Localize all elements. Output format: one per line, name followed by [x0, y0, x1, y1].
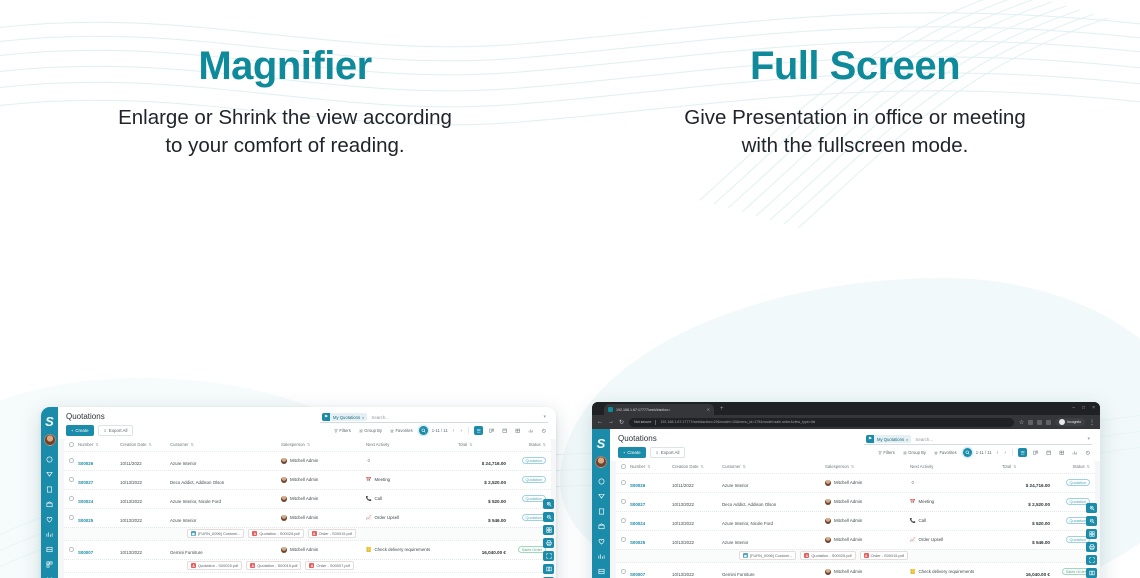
back-icon[interactable]: ← — [597, 419, 603, 425]
close-window-button[interactable]: × — [1092, 405, 1095, 411]
pdf-file-icon: A — [250, 563, 255, 568]
calendar-view-button[interactable] — [1044, 448, 1053, 457]
forward-icon[interactable]: → — [608, 419, 614, 425]
cell-total: $ 520.00 — [458, 490, 506, 508]
attachment-chips: ▣[FURN_0096] Customi...AQuotation - S000… — [69, 529, 356, 538]
attachment-label: Quotation - S00025.pdf — [198, 563, 238, 568]
avatar[interactable] — [595, 456, 607, 468]
magnifier-minus-icon[interactable] — [1086, 516, 1097, 526]
avatar — [825, 518, 831, 524]
group-by-button[interactable]: Group By — [901, 449, 928, 456]
address-bar[interactable]: Not secure 192.168.1.67:17777/web#action… — [629, 418, 1014, 427]
floating-action-buttons — [543, 499, 554, 578]
cell-creation-date: 10/13/2022 — [672, 563, 722, 578]
cell-total: $ 546.00 — [458, 509, 506, 527]
row-checkbox[interactable] — [621, 518, 630, 523]
favorites-button[interactable]: Favorites — [932, 449, 959, 456]
security-label: Not secure — [634, 420, 651, 424]
row-checkbox[interactable] — [69, 496, 78, 501]
row-checkbox[interactable] — [69, 547, 78, 552]
table-header-row: Number⇅ Creation Date⇅ Customer⇅ Salespe… — [64, 439, 551, 451]
magnifier-minus-icon[interactable] — [543, 512, 554, 522]
avatar — [281, 515, 287, 521]
attachment-chip[interactable]: AQuotation - S00025.pdf — [800, 551, 855, 560]
cell-creation-date: 10/11/2022 — [672, 474, 722, 492]
page-title-magnifier: Magnifier — [0, 44, 570, 88]
pdf-file-icon: A — [191, 563, 196, 568]
cell-next-activity: 📒Check delivery requirements — [366, 547, 458, 553]
column-header-salesperson[interactable]: Salesperson⇅ — [281, 442, 366, 447]
purchase-icon[interactable] — [597, 552, 606, 561]
sort-icon: ⇅ — [307, 442, 310, 447]
status-badge: Quotation — [1066, 479, 1090, 487]
cell-number[interactable]: S00027 — [630, 493, 672, 511]
incognito-badge[interactable]: Incognito — [1055, 418, 1085, 426]
attachment-label: [FURN_0096] Customi... — [198, 531, 240, 536]
column-header-status[interactable]: Status⇅ — [1050, 464, 1090, 469]
attachment-chip[interactable]: AQuotation - S00025.pdf — [248, 529, 303, 538]
column-header-number[interactable]: Number⇅ — [630, 464, 672, 469]
filters-button[interactable]: Filters — [332, 427, 353, 434]
download-icon: ⇩ — [656, 450, 659, 455]
view-controls: Filters Group By Favorites — [876, 448, 1092, 459]
floating-action-buttons — [1086, 503, 1097, 578]
attachment-label: Quotation - S00015.pdf — [257, 563, 297, 568]
cell-number[interactable]: S00027 — [78, 471, 120, 489]
table-body: S0002610/11/2022Azure InteriorMitchell A… — [64, 451, 551, 578]
filters-button[interactable]: Filters — [876, 449, 897, 456]
search-facet[interactable]: ⚑ My Quotations × — [866, 435, 911, 443]
avatar — [825, 569, 831, 575]
sort-icon: ⇅ — [1087, 464, 1090, 469]
cell-next-activity: 📒Check delivery requirements — [910, 569, 1002, 575]
attachment-label: Order - S00007.pdf — [316, 563, 349, 568]
pager-prev-button[interactable]: ‹ — [996, 450, 1000, 456]
divider — [1012, 449, 1013, 456]
row-checkbox[interactable] — [69, 458, 78, 463]
attachment-row: ▣[FURN_0096] Customi...AQuotation - S000… — [616, 549, 1095, 562]
select-all-checkbox[interactable] — [621, 464, 630, 469]
cell-customer: Azure Interior — [170, 452, 281, 470]
pager-prev-button[interactable]: ‹ — [452, 428, 456, 434]
avatar[interactable] — [44, 434, 56, 446]
cell-creation-date: 10/13/2022 — [672, 493, 722, 511]
grid-icon[interactable] — [1086, 529, 1097, 539]
page-title: Quotations — [66, 412, 133, 421]
sort-icon: ⇅ — [743, 464, 746, 469]
browser-omnibox-bar: ← → ↻ Not secure 192.168.1.67:17777/web#… — [592, 415, 1100, 429]
app-sidebar[interactable]: S — [41, 407, 58, 578]
filter-facet-icon: ⚑ — [322, 413, 330, 421]
cell-creation-date: 10/13/2022 — [120, 573, 170, 578]
search-bar[interactable]: ⚑ My Quotations × Search... ▾ — [864, 434, 1092, 445]
cell-number[interactable]: S00025 — [630, 531, 672, 549]
app-logo[interactable]: S — [597, 432, 606, 454]
cell-status: Quotation — [1050, 536, 1090, 544]
inventory-icon[interactable] — [597, 522, 606, 531]
crm-icon[interactable] — [45, 515, 54, 524]
cell-status: Sales Order — [506, 546, 546, 554]
pager-next-button[interactable]: › — [459, 428, 463, 434]
table-row[interactable]: S0002410/13/2022Azure Interior, Nicole F… — [616, 511, 1095, 530]
grid-icon[interactable] — [543, 525, 554, 535]
app-content: Quotations + Create ⇩ Export All — [610, 429, 1100, 578]
cell-salesperson: Mitchell Admin — [281, 496, 366, 502]
attachment-label: Quotation - S00025.pdf — [259, 531, 299, 536]
magnifier-plus-icon[interactable] — [543, 499, 554, 509]
attachment-chip[interactable]: AQuotation - S00025.pdf — [187, 561, 242, 570]
pivot-view-button[interactable] — [513, 426, 522, 435]
avatar — [281, 458, 287, 464]
avatar — [825, 537, 831, 543]
pager-label: 1-11 / 11 — [432, 428, 448, 433]
favicon — [608, 407, 613, 412]
cell-salesperson: Mitchell Admin — [825, 499, 910, 505]
column-header-next-activity[interactable]: Next Activity — [366, 442, 458, 447]
extension-icon[interactable] — [1037, 420, 1042, 425]
browser-tab-strip: 192.168.1.67:17777/web/#action= ✕ + – □ … — [592, 402, 1100, 415]
filter-facet-icon: ⚑ — [866, 435, 874, 443]
browser-tab[interactable]: 192.168.1.67:17777/web/#action= ✕ — [604, 404, 714, 415]
reload-icon[interactable]: ↻ — [619, 419, 624, 426]
app-logo[interactable]: S — [45, 410, 54, 432]
pager-next-button[interactable]: › — [1003, 450, 1007, 456]
divider — [655, 420, 656, 425]
sort-icon: ⇅ — [191, 442, 194, 447]
minimize-button[interactable]: – — [1072, 405, 1075, 411]
view-controls: Filters Group By Favorites — [332, 426, 548, 437]
invoicing-icon[interactable] — [45, 485, 54, 494]
cell-customer: Azure Interior — [722, 474, 825, 492]
attachment-label: [FURN_0096] Customi... — [750, 553, 792, 558]
manufacturing-icon[interactable] — [45, 545, 54, 554]
new-tab-button[interactable]: + — [720, 406, 724, 412]
magnifier-plus-icon[interactable] — [1086, 503, 1097, 513]
cell-customer: Lumber Inc — [170, 573, 281, 578]
sort-icon: ⇅ — [701, 464, 704, 469]
column-header-total[interactable]: Total⇅ — [458, 442, 506, 447]
close-icon[interactable]: ✕ — [707, 407, 710, 412]
dashboard-icon[interactable] — [597, 477, 606, 486]
maximize-button[interactable]: □ — [1082, 405, 1085, 411]
table-row[interactable]: S0000610/13/2022Lumber IncMitchell Admin… — [64, 572, 551, 578]
table-row[interactable]: S0002710/13/2022Deco Addict, Addison Ols… — [64, 470, 551, 489]
cell-customer: Azure Interior — [722, 531, 825, 549]
pdf-file-icon: A — [804, 553, 809, 558]
magnifier-icon[interactable] — [963, 448, 972, 457]
cell-next-activity: ○ — [366, 458, 458, 464]
cell-salesperson: Mitchell Admin — [281, 477, 366, 483]
status-badge: Quotation — [522, 457, 546, 465]
call-icon: 📞 — [910, 518, 916, 524]
cell-number[interactable]: S00024 — [630, 512, 672, 530]
attachment-chip[interactable]: ▣[FURN_0096] Customi... — [187, 529, 244, 538]
cell-next-activity: ○ — [910, 480, 1002, 486]
cell-customer: Azure Interior — [170, 509, 281, 527]
image-file-icon: ▣ — [743, 553, 748, 558]
subtitle-line-2: to your comfort of reading. — [165, 134, 404, 157]
sort-icon: ⇅ — [469, 442, 472, 447]
cell-customer: Gemini Furniture — [722, 563, 825, 578]
status-badge: Quotation — [522, 476, 546, 484]
column-header-creation-date[interactable]: Creation Date⇅ — [672, 464, 722, 469]
image-file-icon: ▣ — [191, 531, 196, 536]
cell-status: Quotation — [1050, 498, 1090, 506]
group-by-button[interactable]: Group By — [357, 427, 384, 434]
cell-salesperson: Mitchell Admin — [825, 537, 910, 543]
cell-salesperson: Mitchell Admin — [825, 518, 910, 524]
browser-viewport: S — [592, 429, 1100, 578]
table-row[interactable]: S0002510/13/2022Azure InteriorMitchell A… — [616, 530, 1095, 549]
attachment-label: Quotation - S00025.pdf — [811, 553, 851, 558]
cell-customer: Azure Interior, Nicole Ford — [722, 512, 825, 530]
tab-title: 192.168.1.67:17777/web/#action= — [616, 408, 704, 412]
cell-customer: Deco Addict, Addison Olson — [170, 471, 281, 489]
fullscreen-icon[interactable] — [1086, 555, 1097, 565]
window-controls: – □ × — [1072, 405, 1095, 411]
attachment-chip[interactable]: AOrder - S00007.pdf — [305, 561, 353, 570]
laptop-mockup: 192.168.1.67:17777/web/#action= ✕ + – □ … — [592, 402, 1100, 578]
purchase-icon[interactable] — [45, 530, 54, 539]
table-row[interactable]: S0002510/13/2022Azure InteriorMitchell A… — [64, 508, 551, 527]
quotations-table: Number⇅ Creation Date⇅ Customer⇅ Salespe… — [58, 439, 556, 578]
url-text: 192.168.1.67:17777/web#action=29&model=1… — [660, 420, 815, 424]
search-area: ⚑ My Quotations × Search... ▾ Filter — [320, 412, 548, 437]
cell-total: 760.00 € — [458, 573, 506, 578]
avatar — [825, 480, 831, 486]
manufacturing-icon[interactable] — [597, 567, 606, 576]
print-icon[interactable] — [1086, 542, 1097, 552]
call-icon: 📞 — [366, 496, 372, 502]
pdf-file-icon: A — [864, 553, 869, 558]
inventory-icon[interactable] — [45, 500, 54, 509]
cell-total: $ 520.00 — [1002, 512, 1050, 530]
clock-icon: ○ — [910, 480, 916, 486]
cell-salesperson: Mitchell Admin — [281, 547, 366, 553]
create-button[interactable]: + Create — [66, 425, 94, 435]
dashboard-icon[interactable] — [45, 455, 54, 464]
table-row[interactable]: S0000710/13/2022Gemini FurnitureMitchell… — [616, 562, 1095, 578]
headings-row: Magnifier Enlarge or Shrink the view acc… — [0, 0, 1140, 159]
search-facet[interactable]: ⚑ My Quotations × — [322, 413, 367, 421]
column-header-creation-date[interactable]: Creation Date⇅ — [120, 442, 170, 447]
search-area: ⚑ My Quotations × Search... ▾ — [864, 434, 1092, 459]
row-checkbox[interactable] — [621, 499, 630, 504]
sort-icon: ⇅ — [95, 442, 98, 447]
graph-view-button[interactable] — [1070, 448, 1079, 457]
graph-view-button[interactable] — [526, 426, 535, 435]
table-row[interactable]: S0002710/13/2022Deco Addict, Addison Ols… — [616, 492, 1095, 511]
print-icon[interactable] — [543, 538, 554, 548]
list-view-button[interactable] — [474, 426, 483, 435]
chevron-down-icon[interactable]: ▾ — [543, 414, 546, 420]
row-checkbox[interactable] — [621, 569, 630, 574]
cell-next-activity: 📈Order Upsell — [366, 515, 458, 521]
table-row[interactable]: S0000710/13/2022Gemini FurnitureMitchell… — [64, 540, 551, 559]
subtitle-line-2: with the fullscreen mode. — [742, 134, 969, 157]
meeting-icon: 📅 — [366, 477, 372, 483]
magnifier-icon[interactable] — [419, 426, 428, 435]
app-content: Quotations + Create ⇩ Export All — [58, 407, 556, 578]
column-header-next-activity[interactable]: Next Activity — [910, 464, 1002, 469]
pdf-file-icon: A — [252, 531, 257, 536]
cell-number[interactable]: S00024 — [78, 490, 120, 508]
heading-subtitle-fullscreen: Give Presentation in office or meeting w… — [570, 104, 1140, 159]
sort-icon: ⇅ — [851, 464, 854, 469]
cell-number[interactable]: S00025 — [78, 509, 120, 527]
avatar — [281, 477, 287, 483]
calendar-view-button[interactable] — [500, 426, 509, 435]
heading-magnifier: Magnifier Enlarge or Shrink the view acc… — [0, 0, 570, 159]
cell-number[interactable]: S00007 — [78, 541, 120, 559]
note-icon: 📒 — [366, 547, 372, 553]
cell-creation-date: 10/13/2022 — [672, 531, 722, 549]
column-header-number[interactable]: Number⇅ — [78, 442, 120, 447]
cell-status: Quotation — [1050, 517, 1090, 525]
column-header-total[interactable]: Total⇅ — [1002, 464, 1050, 469]
subtitle-line-1: Enlarge or Shrink the view according — [118, 106, 452, 129]
columns-icon[interactable] — [543, 564, 554, 574]
table-row[interactable]: S0002610/11/2022Azure InteriorMitchell A… — [64, 451, 551, 470]
subtitle-line-1: Give Presentation in office or meeting — [684, 106, 1025, 129]
column-header-customer[interactable]: Customer⇅ — [170, 442, 281, 447]
note-icon: 📒 — [910, 569, 916, 575]
kanban-view-button[interactable] — [487, 426, 496, 435]
select-all-checkbox[interactable] — [69, 442, 78, 447]
avatar — [281, 496, 287, 502]
row-checkbox[interactable] — [621, 537, 630, 542]
cell-status: Quotation — [506, 514, 546, 522]
columns-icon[interactable] — [1086, 568, 1097, 578]
table-row[interactable]: S0002410/13/2022Azure Interior, Nicole F… — [64, 489, 551, 508]
activity-view-button[interactable] — [539, 426, 548, 435]
plus-icon: + — [71, 428, 73, 433]
sort-icon: ⇅ — [149, 442, 152, 447]
app-header: Quotations + Create ⇩ Export All — [610, 429, 1100, 460]
invoicing-icon[interactable] — [597, 507, 606, 516]
cell-status: Quotation — [506, 495, 546, 503]
cell-creation-date: 10/13/2022 — [120, 471, 170, 489]
cell-total: $ 546.00 — [1002, 531, 1050, 549]
app-header: Quotations + Create ⇩ Export All — [58, 407, 556, 438]
row-checkbox[interactable] — [69, 477, 78, 482]
search-input[interactable]: Search... — [371, 415, 539, 420]
attachment-chip[interactable]: AOrder - S00015.pdf — [308, 529, 356, 538]
extension-icon[interactable] — [1028, 420, 1033, 425]
export-all-button[interactable]: ⇩ Export All — [98, 425, 134, 435]
search-bar[interactable]: ⚑ My Quotations × Search... ▾ — [320, 412, 548, 423]
cell-status: Sales Order — [1050, 568, 1090, 576]
attachment-label: Order - S00015.pdf — [319, 531, 352, 536]
cell-next-activity: 📅Meeting — [366, 477, 458, 483]
cell-creation-date: 10/13/2022 — [120, 541, 170, 559]
cell-creation-date: 10/13/2022 — [672, 512, 722, 530]
sort-icon: ⇅ — [647, 464, 650, 469]
row-checkbox[interactable] — [69, 515, 78, 520]
sales-icon[interactable] — [597, 492, 606, 501]
avatar — [825, 499, 831, 505]
upsell-icon: 📈 — [366, 515, 372, 521]
browser-menu-icon[interactable]: ⋮ — [1089, 419, 1095, 426]
list-view-button[interactable] — [1018, 448, 1027, 457]
heading-subtitle-magnifier: Enlarge or Shrink the view according to … — [0, 104, 570, 159]
attachment-row: AQuotation - S00025.pdfAQuotation - S000… — [64, 559, 551, 572]
create-button[interactable]: + Create — [618, 447, 646, 457]
favorites-button[interactable]: Favorites — [388, 427, 415, 434]
facet-remove-icon[interactable]: × — [362, 415, 364, 420]
avatar — [281, 547, 287, 553]
cell-total: $ 24,716.00 — [1002, 474, 1050, 492]
column-header-customer[interactable]: Customer⇅ — [722, 464, 825, 469]
quotations-table: Number⇅ Creation Date⇅ Customer⇅ Salespe… — [610, 461, 1100, 578]
project-icon[interactable] — [45, 560, 54, 569]
cell-creation-date: 10/13/2022 — [120, 490, 170, 508]
kanban-view-button[interactable] — [1031, 448, 1040, 457]
plus-icon: + — [623, 450, 625, 455]
heading-fullscreen: Full Screen Give Presentation in office … — [570, 0, 1140, 159]
cell-creation-date: 10/11/2022 — [120, 452, 170, 470]
status-badge: Sales Order — [518, 546, 546, 554]
pdf-file-icon: A — [309, 563, 314, 568]
extension-icon[interactable] — [1046, 420, 1051, 425]
row-checkbox[interactable] — [621, 480, 630, 485]
cell-salesperson: Mitchell Admin — [281, 515, 366, 521]
cell-customer: Azure Interior, Nicole Ford — [170, 490, 281, 508]
cell-total: 16,040.00 € — [1002, 563, 1050, 578]
sales-icon[interactable] — [45, 470, 54, 479]
attachment-chip[interactable]: AQuotation - S00015.pdf — [246, 561, 301, 570]
cell-salesperson: Mitchell Admin — [281, 458, 366, 464]
page-title-fullscreen: Full Screen — [570, 44, 1140, 88]
cell-number[interactable]: S00026 — [630, 474, 672, 492]
export-all-button[interactable]: ⇩ Export All — [650, 447, 686, 457]
chevron-down-icon[interactable]: ▾ — [1087, 436, 1090, 442]
cell-status: Quotation — [506, 457, 546, 465]
attachment-chips: ▣[FURN_0096] Customi...AQuotation - S000… — [621, 551, 908, 560]
cell-total: $ 24,716.00 — [458, 452, 506, 470]
facet-remove-icon[interactable]: × — [906, 437, 908, 442]
cell-customer: Deco Addict, Addison Olson — [722, 493, 825, 511]
attachment-chip[interactable]: ▣[FURN_0096] Customi... — [739, 551, 796, 560]
cell-number[interactable]: S00026 — [78, 452, 120, 470]
sort-icon: ⇅ — [1013, 464, 1016, 469]
attachment-chip[interactable]: AOrder - S00015.pdf — [860, 551, 908, 560]
activity-view-button[interactable] — [1083, 448, 1092, 457]
cell-next-activity: 📅Meeting — [910, 499, 1002, 505]
table-row[interactable]: S0002610/11/2022Azure InteriorMitchell A… — [616, 473, 1095, 492]
cell-customer: Gemini Furniture — [170, 541, 281, 559]
bookmark-star-icon[interactable]: ☆ — [1019, 419, 1024, 426]
sort-icon: ⇅ — [543, 442, 546, 447]
column-header-salesperson[interactable]: Salesperson⇅ — [825, 464, 910, 469]
cell-status: Quotation — [1050, 479, 1090, 487]
app-sidebar[interactable]: S — [592, 429, 610, 578]
table-header-row: Number⇅ Creation Date⇅ Customer⇅ Salespe… — [616, 461, 1095, 473]
search-input[interactable]: Search... — [915, 437, 1083, 442]
cell-next-activity: 📞Call — [366, 496, 458, 502]
cell-next-activity: 📈Order Upsell — [910, 537, 1002, 543]
column-header-status[interactable]: Status⇅ — [506, 442, 546, 447]
cell-number[interactable]: S00007 — [630, 563, 672, 578]
pivot-view-button[interactable] — [1057, 448, 1066, 457]
profile-avatar-icon — [1059, 419, 1065, 425]
cell-number[interactable]: S00006 — [78, 573, 120, 578]
crm-icon[interactable] — [597, 537, 606, 546]
fullscreen-icon[interactable] — [543, 551, 554, 561]
browser-actions: ☆ Incognito ⋮ — [1019, 418, 1095, 426]
cell-total: $ 2,520.00 — [1002, 493, 1050, 511]
page-title: Quotations — [618, 434, 685, 443]
